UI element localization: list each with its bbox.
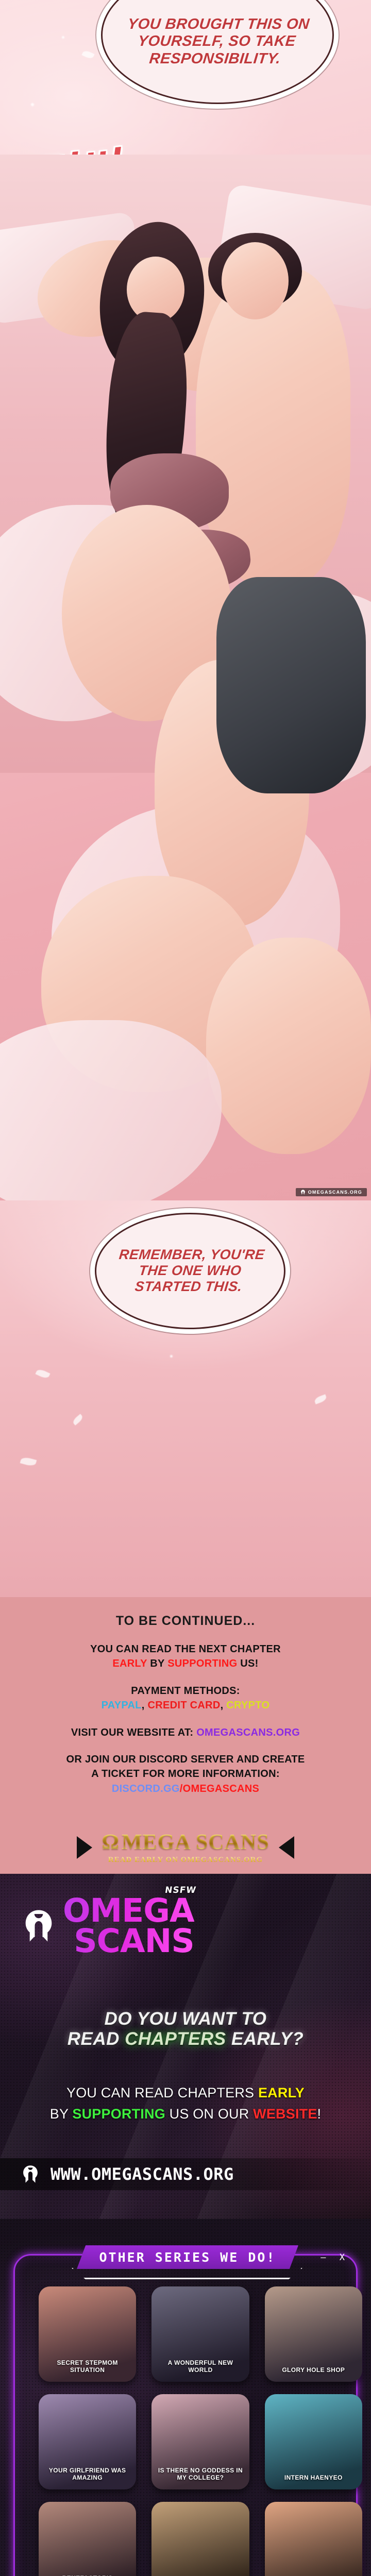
figure-face-b [222, 242, 289, 319]
promo-headline-line-2: READ CHAPTERS EARLY? [0, 2029, 371, 2049]
nsfw-badge: NSFW [164, 1887, 197, 1895]
promo-logo-row: OMEGA SCANS NSFW [23, 1895, 194, 1956]
omega-logo-icon [23, 1908, 55, 1943]
series-card[interactable]: INTERN HAENYEO [265, 2394, 362, 2489]
series-card[interactable]: YOUR GIRLFRIEND WAS AMAZING [39, 2394, 136, 2489]
visit-label: VISIT OUR WEBSITE AT: [71, 1727, 193, 1738]
headline-chapters: CHAPTERS [125, 2029, 226, 2049]
series-card[interactable]: SECRET STEPMOM SITUATION [39, 2286, 136, 2382]
series-card-title: GLORY HOLE SHOP [265, 2366, 362, 2382]
series-header-ribbon: OTHER SERIES WE DO! [77, 2245, 298, 2269]
petal [35, 1368, 50, 1380]
sub2e: ! [317, 2106, 322, 2122]
payment-paypal: PAYPAL [102, 1700, 142, 1711]
sparkle [31, 103, 34, 106]
series-card-title: YOUR GIRLFRIEND WAS AMAZING [39, 2467, 136, 2489]
triangle-right-icon [279, 1836, 294, 1859]
series-card-title: SECRET STEPMOM SITUATION [39, 2359, 136, 2382]
webtoon-page: YOU BROUGHT THIS ON YOURSELF, SO TAKE RE… [0, 0, 371, 2576]
omega-scans-gold-banner: ΩMEGA SCANS READ EARLY ON OMEGASCANS.ORG [0, 1811, 371, 1874]
comic-panel-2: REMEMBER, YOU'RE THE ONE WHO STARTED THI… [0, 1200, 371, 1597]
series-card[interactable]: GLORY HOLE SHOP [265, 2286, 362, 2382]
petal [20, 1456, 37, 1467]
us-label: US! [240, 1658, 258, 1669]
announcement-block: TO BE CONTINUED... YOU CAN READ THE NEXT… [0, 1597, 371, 1811]
series-card-title: A WONDERFUL NEW WORLD [151, 2359, 249, 2382]
discord-path: /OMEGASCANS [180, 1783, 259, 1794]
watermark-text: OMEGASCANS.ORG [308, 1190, 362, 1195]
next-chapter-line-2: EARLY BY SUPPORTING US! [0, 1656, 371, 1671]
window-controls[interactable]: — X [321, 2252, 349, 2263]
discord-host: DISCORD.GG [112, 1783, 180, 1794]
promo-subtext: YOU CAN READ CHAPTERS EARLY BY SUPPORTIN… [0, 2082, 371, 2124]
next-chapter-line-1: YOU CAN READ THE NEXT CHAPTER [0, 1642, 371, 1656]
other-series-panel: OTHER SERIES WE DO! — X SECRET STEPMOM S… [0, 2219, 371, 2576]
gold-banner-title: ΩMEGA SCANS [102, 1830, 269, 1855]
speech-bubble-1: YOU BROUGHT THIS ON YOURSELF, SO TAKE RE… [101, 0, 334, 104]
series-card-title: IS THERE NO GODDESS IN MY COLLEGE? [151, 2467, 249, 2489]
headline-early: EARLY? [231, 2029, 303, 2049]
speech-bubble-2-text: REMEMBER, YOU'RE THE ONE WHO STARTED THI… [110, 1247, 270, 1295]
early-label: EARLY [112, 1658, 147, 1669]
promo-subtext-line-1: YOU CAN READ CHAPTERS EARLY [0, 2082, 371, 2104]
promo-headline-line-1: DO YOU WANT TO [0, 2009, 371, 2029]
gold-banner-title-text: MEGA SCANS [122, 1830, 269, 1855]
headline-read: READ [68, 2029, 120, 2049]
sub1b: EARLY [258, 2085, 305, 2100]
payment-credit-card: CREDIT CARD [148, 1700, 221, 1711]
series-card[interactable]: IS THERE NO GODDESS IN MY COLLEGE? [151, 2394, 249, 2489]
series-card[interactable]: A WONDERFUL NEW WORLD [151, 2286, 249, 2382]
figure-lower-b [206, 938, 371, 1154]
sparkle [62, 36, 64, 39]
speech-bubble-1-text: YOU BROUGHT THIS ON YOURSELF, SO TAKE RE… [121, 3, 313, 67]
sub2a: BY [50, 2106, 73, 2122]
spacer [0, 1671, 371, 1684]
discord-invite-link[interactable]: DISCORD.GG/OMEGASCANS [0, 1782, 371, 1796]
promo-url-text: WWW.OMEGASCANS.ORG [50, 2164, 234, 2184]
gold-banner-text-group: ΩMEGA SCANS READ EARLY ON OMEGASCANS.ORG [102, 1830, 269, 1865]
series-grid: SECRET STEPMOM SITUATIONA WONDERFUL NEW … [39, 2286, 362, 2576]
series-window-frame: OTHER SERIES WE DO! — X SECRET STEPMOM S… [13, 2254, 358, 2576]
discord-line-2: A TICKET FOR MORE INFORMATION: [0, 1767, 371, 1781]
triangle-left-icon [77, 1836, 92, 1859]
sub1a: YOU CAN READ CHAPTERS [66, 2085, 258, 2100]
promo-subtext-line-2: BY SUPPORTING US ON OUR WEBSITE! [0, 2104, 371, 2125]
omega-logo-icon [300, 1190, 306, 1195]
brand-wordmark: OMEGA SCANS NSFW [63, 1895, 194, 1956]
series-card-title: INTERN HAENYEO [265, 2474, 362, 2489]
series-card[interactable]: PAY WITH SPERM PAY [265, 2502, 362, 2576]
promo-banner: OMEGA SCANS NSFW DO YOU WANT TO READ CHA… [0, 1874, 371, 2219]
to-be-continued: TO BE CONTINUED... [0, 1606, 371, 1642]
supporting-label: SUPPORTING [167, 1658, 237, 1669]
payment-methods-label: PAYMENT METHODS: [0, 1684, 371, 1698]
petal [314, 1394, 328, 1404]
petal [72, 1414, 84, 1426]
by-label: BY [150, 1658, 164, 1669]
comic-panel-1: YOU BROUGHT THIS ON YOURSELF, SO TAKE RE… [0, 0, 371, 1200]
sheet-fold [0, 1020, 222, 1200]
sub2c: US ON OUR [165, 2106, 253, 2122]
gold-banner-subtitle: READ EARLY ON OMEGASCANS.ORG [102, 1856, 269, 1865]
omega-logo-icon [22, 2164, 39, 2184]
ribbon-tail-decoration [72, 2268, 302, 2279]
promo-headline: DO YOU WANT TO READ CHAPTERS EARLY? [0, 2009, 371, 2049]
sub2d: WEBSITE [253, 2106, 317, 2122]
series-header-text: OTHER SERIES WE DO! [99, 2250, 276, 2265]
watermark: OMEGASCANS.ORG [296, 1188, 367, 1196]
series-card[interactable]: BENEFACTOR'S DAUGHTERS [39, 2502, 136, 2576]
visit-website-line: VISIT OUR WEBSITE AT: OMEGASCANS.ORG [0, 1725, 371, 1740]
spacer [0, 1713, 371, 1725]
sparkle [170, 1355, 173, 1358]
payment-methods-values: PAYPAL, CREDIT CARD, CRYPTO [0, 1698, 371, 1713]
petal [81, 49, 94, 60]
brand-line-2: SCANS [63, 1926, 194, 1956]
promo-url-bar[interactable]: WWW.OMEGASCANS.ORG [0, 2158, 371, 2190]
speech-bubble-2: REMEMBER, YOU'RE THE ONE WHO STARTED THI… [95, 1213, 285, 1329]
payment-crypto: CRYPTO [226, 1700, 269, 1711]
omega-glyph-icon: Ω [102, 1830, 120, 1855]
spacer [0, 1740, 371, 1752]
trousers [216, 577, 366, 793]
sub2b: SUPPORTING [72, 2106, 165, 2122]
discord-line-1: OR JOIN OUR DISCORD SERVER AND CREATE [0, 1752, 371, 1767]
gold-banner-row: ΩMEGA SCANS READ EARLY ON OMEGASCANS.ORG [0, 1830, 371, 1865]
website-url-link[interactable]: OMEGASCANS.ORG [196, 1727, 300, 1738]
series-card[interactable]: HERBAL LOVE STORY [151, 2502, 249, 2576]
